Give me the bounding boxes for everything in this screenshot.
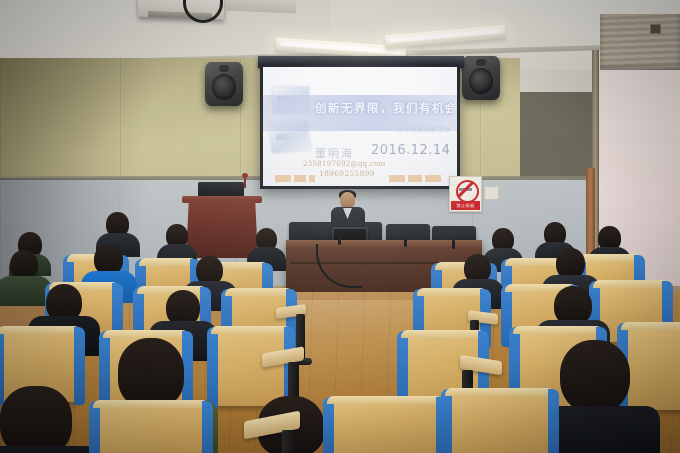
wall-speaker-left [205, 62, 243, 106]
desk-microphone-icon [404, 238, 407, 247]
auditorium-seat[interactable] [96, 404, 206, 453]
slide-email: 2358197692@qq.com [303, 160, 386, 168]
slatted-panel [600, 14, 680, 70]
slide-presenter-name: 董明海 [315, 145, 354, 161]
auditorium-seat[interactable] [330, 400, 440, 453]
slide-swatch [408, 175, 422, 182]
slat-panel-switch [650, 24, 661, 34]
slide-phone: 18969255899 [319, 169, 375, 178]
auditorium-seat[interactable] [214, 330, 288, 406]
slide-swatch [275, 175, 291, 182]
slide-swatch [425, 175, 441, 182]
wall-switch-plate [484, 186, 499, 200]
auditorium-seat[interactable] [624, 326, 680, 410]
lectern-microphone-icon [244, 176, 246, 188]
projection-screen: 创新无界限，我们有机会 大学科技创新活动 董明海 2016.12.14 2358… [260, 64, 460, 189]
desk-microphone-icon [452, 240, 455, 249]
slide-swatch [389, 175, 405, 182]
lectern [186, 200, 258, 258]
slide-date: 2016.12.14 [371, 143, 450, 158]
slide-subtitle: 大学科技创新活动 [397, 125, 451, 134]
no-smoking-label: 禁止吸烟 [451, 201, 480, 210]
prohibition-circle-icon [456, 180, 479, 203]
seat-support-post [282, 430, 295, 453]
presentation-slide: 创新无界限，我们有机会 大学科技创新活动 董明海 2016.12.14 2358… [263, 67, 457, 186]
lecture-hall-photo: 创新无界限，我们有机会 大学科技创新活动 董明海 2016.12.14 2358… [0, 0, 680, 453]
no-smoking-sign: 禁止吸烟 [449, 176, 482, 212]
wall-speaker-right [462, 56, 500, 100]
slide-swatch [294, 175, 306, 182]
slide-title: 创新无界限，我们有机会 [315, 100, 453, 116]
slide-swatch [309, 175, 315, 182]
auditorium-seat[interactable] [448, 392, 552, 453]
upper-wall-shadow [0, 58, 190, 188]
